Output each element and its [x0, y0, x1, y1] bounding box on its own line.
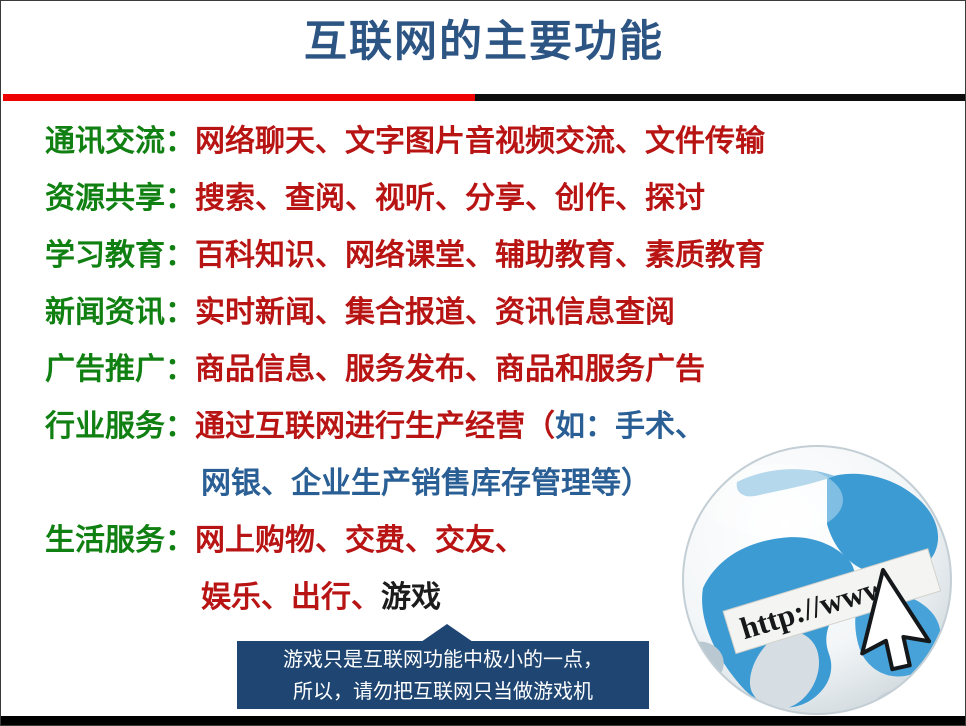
bullet-line: 资源共享：搜索、查阅、视听、分享、创作、探讨 — [1, 170, 966, 227]
bullet-label: 新闻资讯： — [45, 296, 195, 329]
bottom-bar — [1, 716, 966, 725]
bullet-text-segment: 如：手术、 — [555, 410, 705, 443]
bullet-line: 通讯交流：网络聊天、文字图片音视频交流、文件传输 — [1, 113, 966, 170]
bullet-label: 行业服务： — [45, 410, 195, 443]
bullet-label: 学习教育： — [45, 239, 195, 272]
callout-line-2: 所以，请勿把互联网只当做游戏机 — [237, 676, 649, 708]
bullet-line-continuation: 网银、企业生产销售库存管理等） — [1, 455, 966, 512]
bullet-text-segment: 网络聊天、文字图片音视频交流、文件传输 — [195, 125, 765, 158]
title-divider-red-segment — [3, 94, 475, 101]
title-divider-rule — [3, 94, 965, 101]
bullet-line: 新闻资讯：实时新闻、集合报道、资讯信息查阅 — [1, 284, 966, 341]
page-title: 互联网的主要功能 — [1, 19, 966, 65]
bullet-line: 生活服务：网上购物、交费、交友、 — [1, 512, 966, 569]
bullet-text-segment: 百科知识、网络课堂、辅助教育、素质教育 — [195, 239, 765, 272]
callout-pointer-icon — [421, 624, 473, 642]
bullet-label: 资源共享： — [45, 182, 195, 215]
bullet-text-segment: 游戏 — [381, 581, 441, 614]
callout-box: 游戏只是互联网功能中极小的一点， 所以，请勿把互联网只当做游戏机 — [237, 641, 649, 709]
bullet-label: 生活服务： — [45, 524, 195, 557]
bullet-line: 广告推广：商品信息、服务发布、商品和服务广告 — [1, 341, 966, 398]
bullet-label: 通讯交流： — [45, 125, 195, 158]
callout-line-1: 游戏只是互联网功能中极小的一点， — [237, 644, 649, 676]
page-title-text: 互联网的主要功能 — [1, 19, 966, 65]
bullet-line: 行业服务：通过互联网进行生产经营（如：手术、 — [1, 398, 966, 455]
bullet-text-segment: 娱乐、出行、 — [201, 581, 381, 614]
bullet-label: 广告推广： — [45, 353, 195, 386]
bullet-list: 通讯交流：网络聊天、文字图片音视频交流、文件传输资源共享：搜索、查阅、视听、分享… — [1, 113, 966, 626]
slide-canvas: 互联网的主要功能 — [0, 0, 966, 726]
bullet-text-segment: 通过互联网进行生产经营（ — [195, 410, 555, 443]
bullet-text-segment: 实时新闻、集合报道、资讯信息查阅 — [195, 296, 675, 329]
bullet-line-continuation: 娱乐、出行、游戏 — [1, 569, 966, 626]
bullet-text-segment: 网上购物、交费、交友、 — [195, 524, 525, 557]
bullet-line: 学习教育：百科知识、网络课堂、辅助教育、素质教育 — [1, 227, 966, 284]
bullet-text-segment: 搜索、查阅、视听、分享、创作、探讨 — [195, 182, 705, 215]
bullet-text-segment: 商品信息、服务发布、商品和服务广告 — [195, 353, 705, 386]
bullet-text-segment: 网银、企业生产销售库存管理等） — [201, 467, 651, 500]
